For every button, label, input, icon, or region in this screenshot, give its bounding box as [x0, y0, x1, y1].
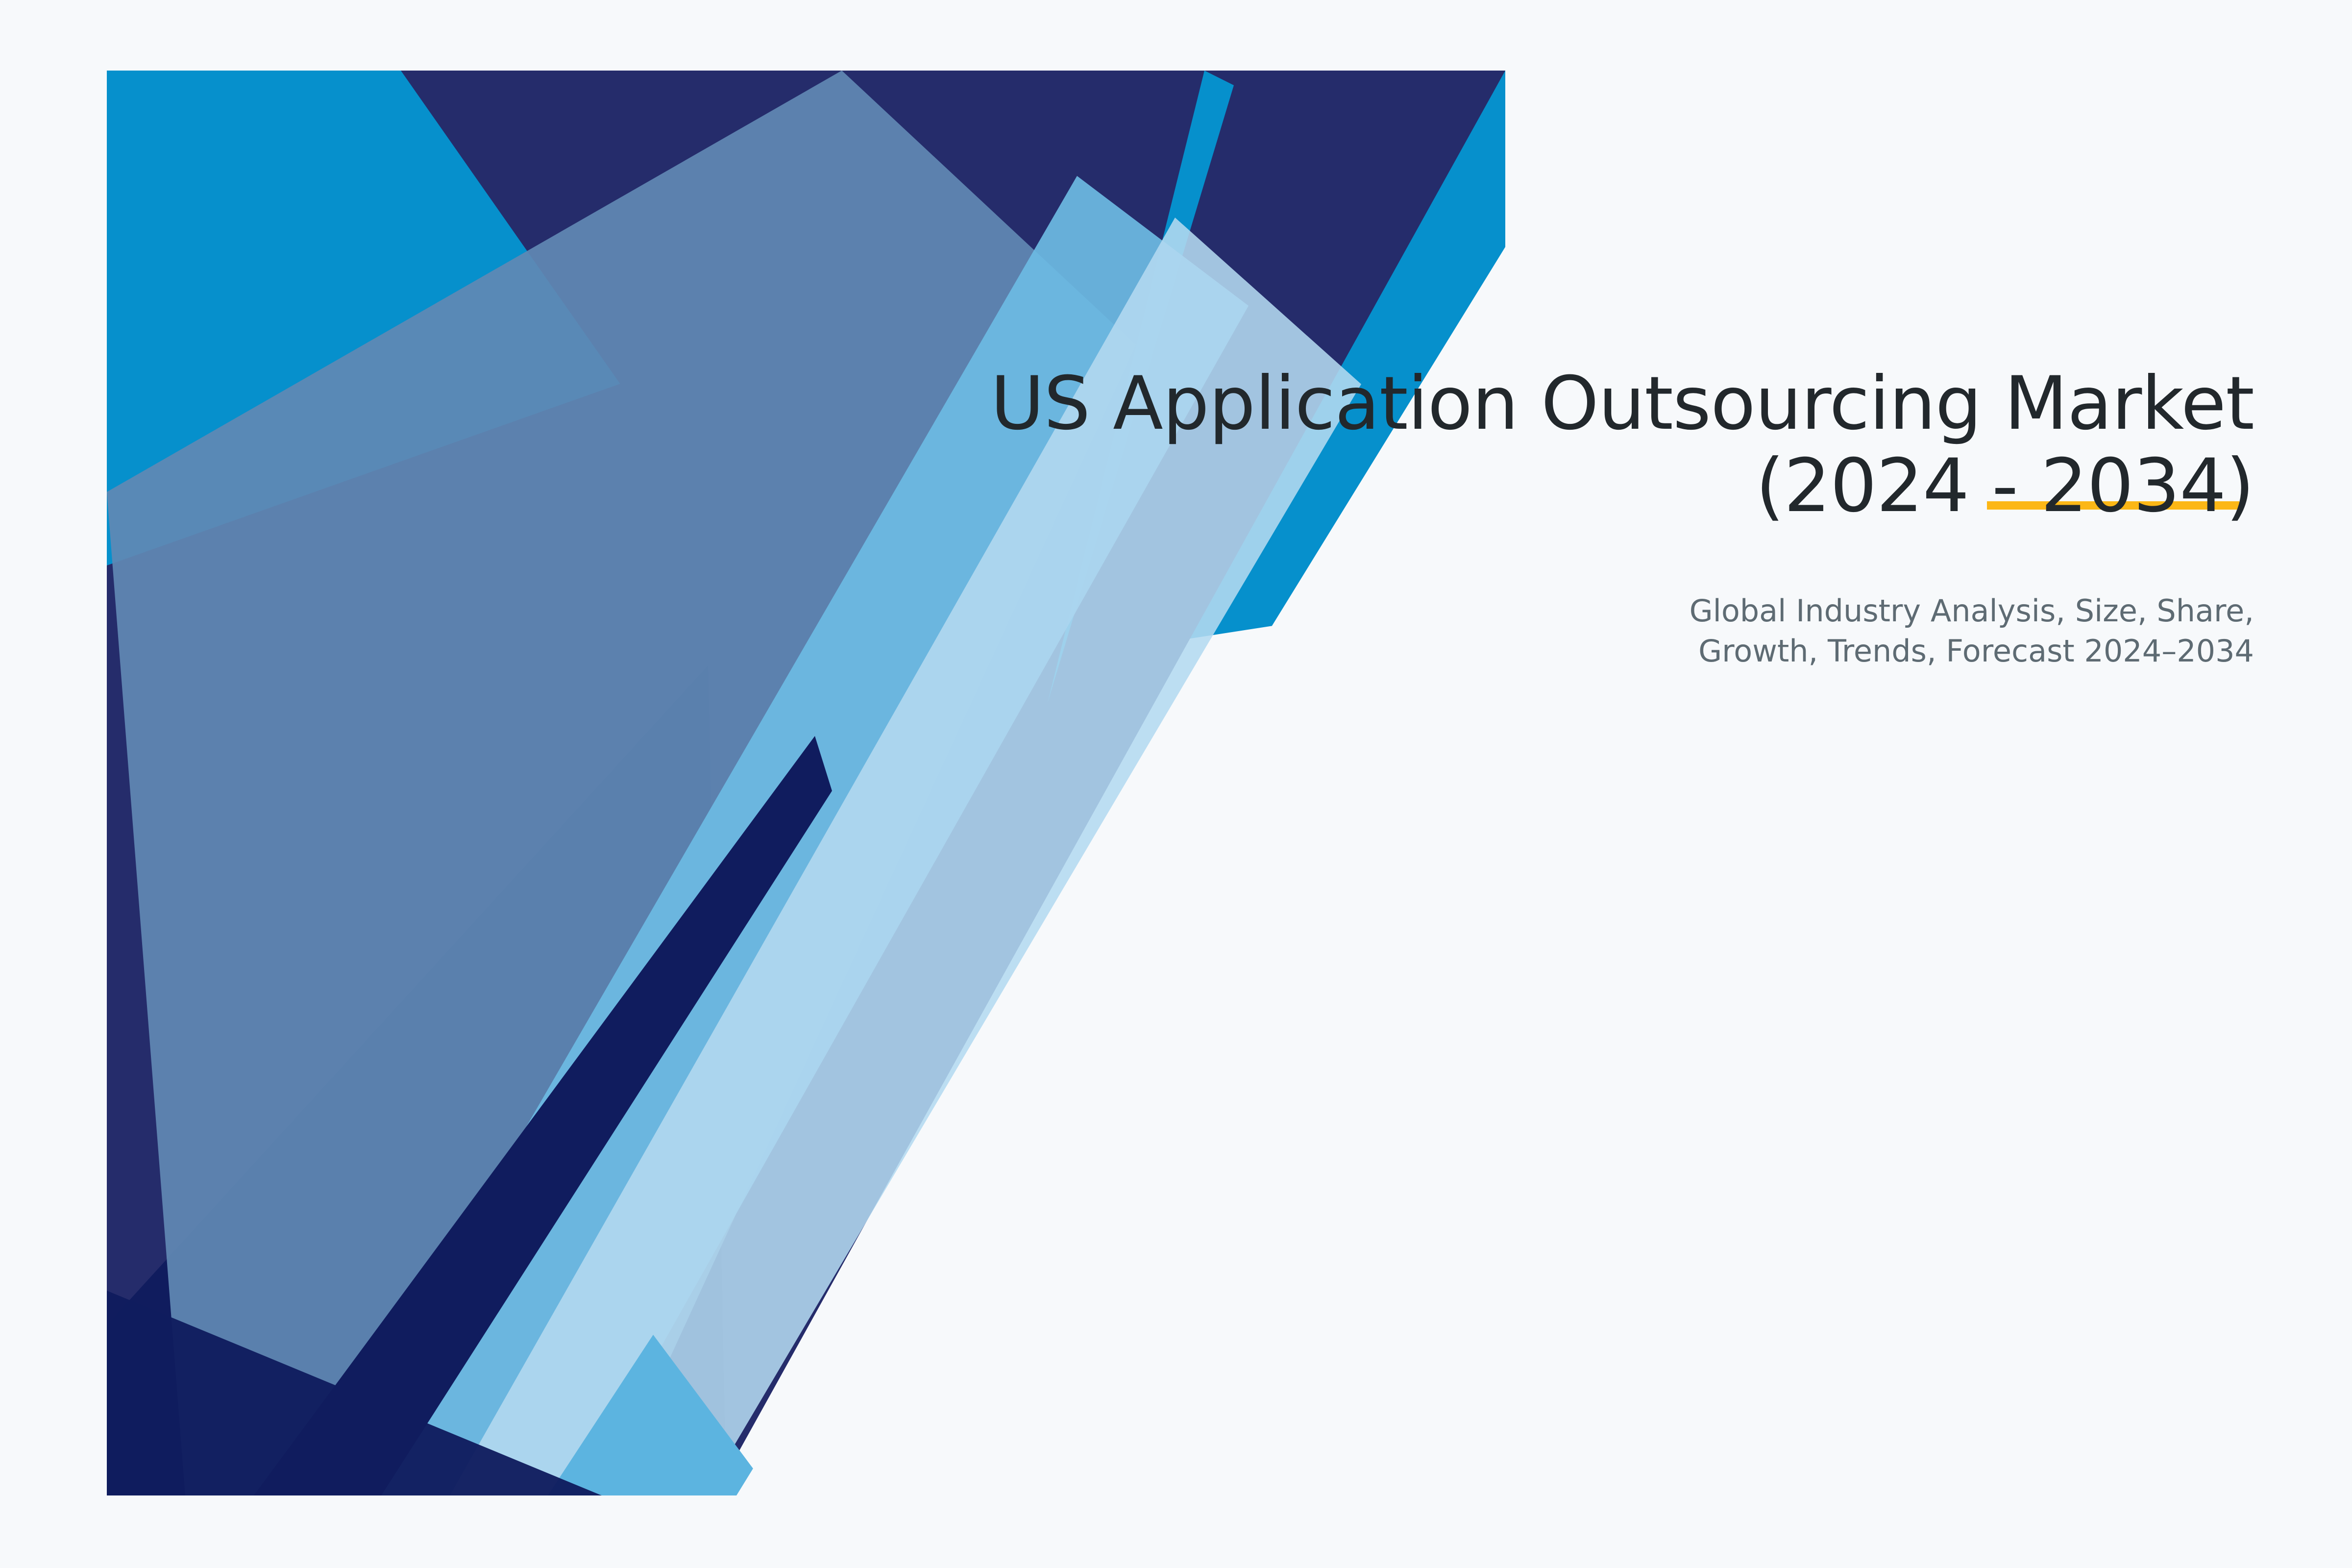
cover-artwork	[107, 71, 1505, 1495]
page-subtitle-line-2: Growth, Trends, Forecast 2024–2034	[1698, 633, 2254, 669]
page-title-line-2: (2024 - 2034)	[1756, 443, 2254, 529]
cover-slide: US Application Outsourcing Market (2024 …	[0, 0, 2352, 1568]
page-subtitle-line-1: Global Industry Analysis, Size, Share,	[1690, 593, 2254, 629]
page-title-line-1: US Application Outsourcing Market	[990, 361, 2254, 446]
page-subtitle: Global Industry Analysis, Size, Share, G…	[931, 591, 2254, 671]
cover-text-column: US Application Outsourcing Market (2024 …	[931, 363, 2254, 671]
artwork-svg	[107, 71, 1505, 1495]
page-title: US Application Outsourcing Market (2024 …	[931, 363, 2254, 527]
title-block: US Application Outsourcing Market (2024 …	[931, 363, 2254, 527]
